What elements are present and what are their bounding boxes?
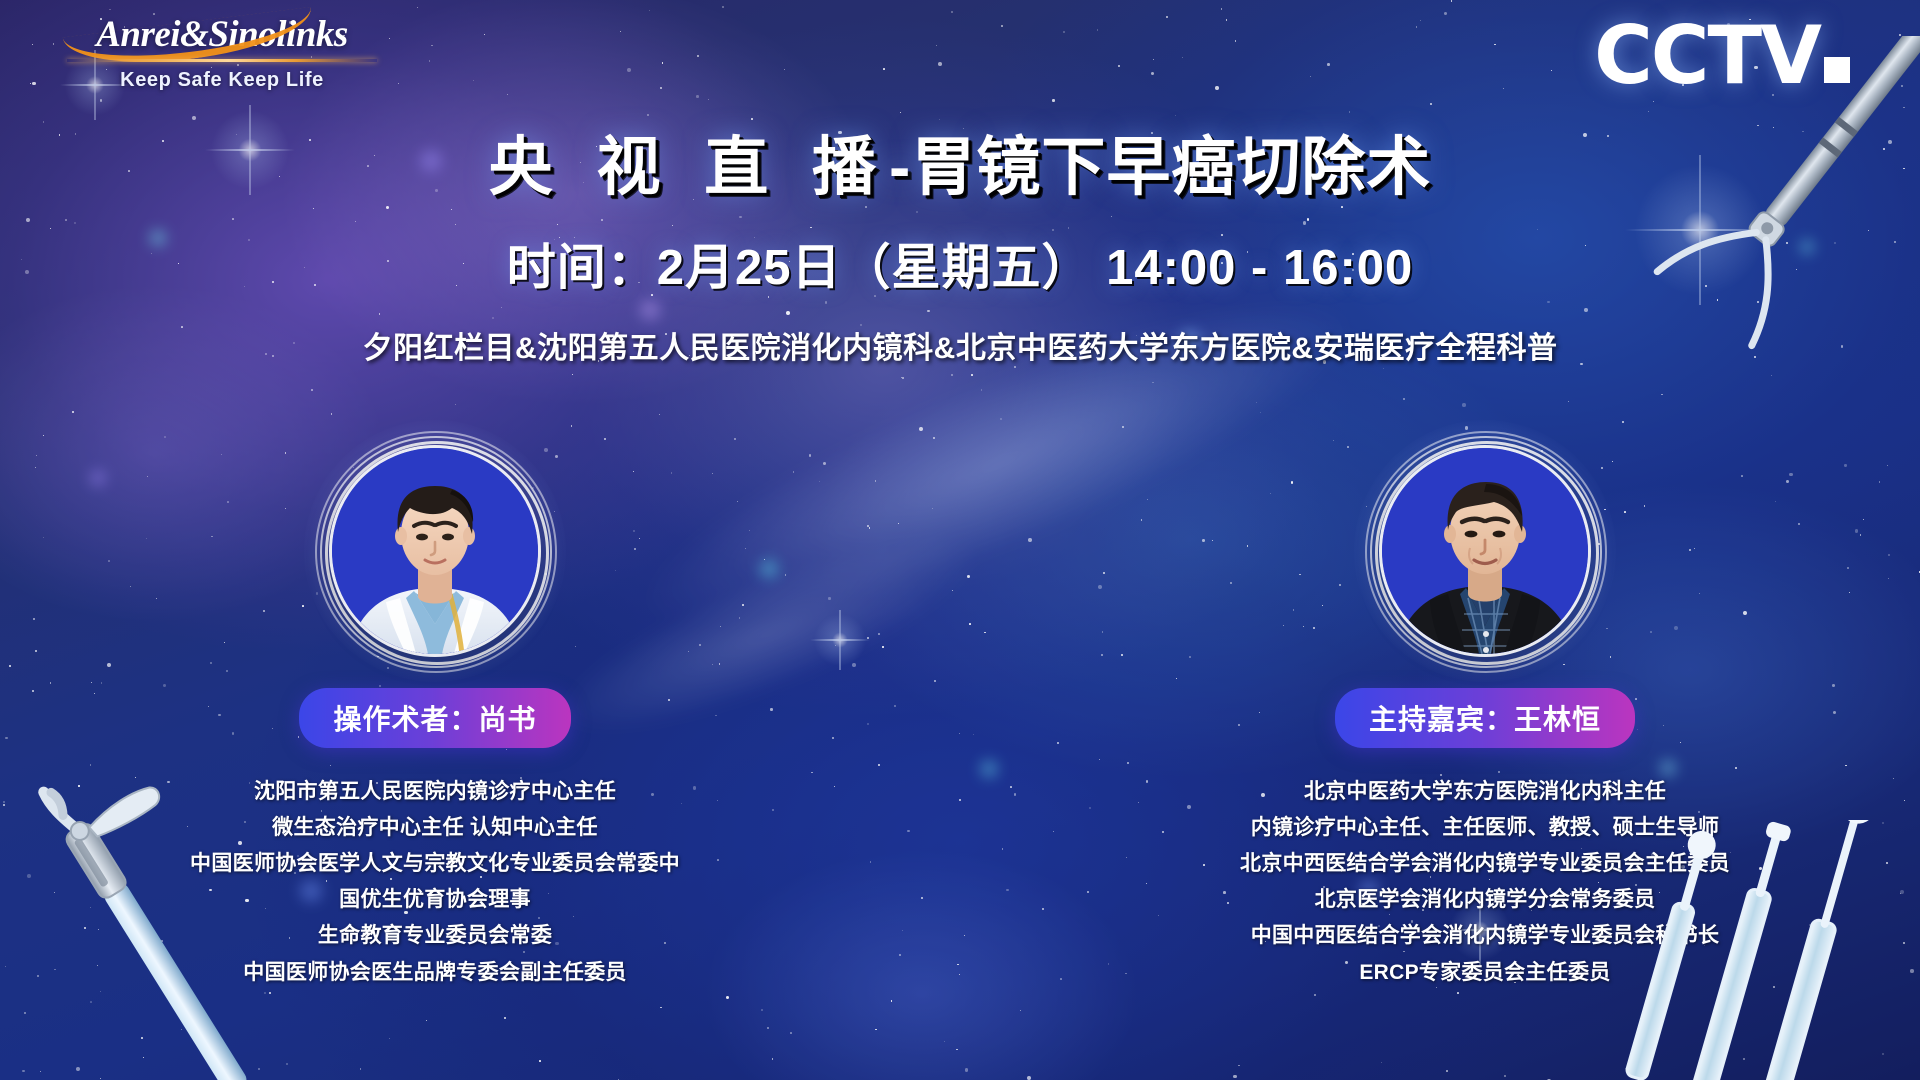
list-item: 中国医师协会医生品牌专委会副主任委员	[190, 955, 680, 991]
page-title-suffix: 胃镜下早癌切除术	[911, 131, 1431, 203]
page-title: 央 视 直 播-胃镜下早癌切除术	[0, 132, 1920, 202]
headline-block: 央 视 直 播-胃镜下早癌切除术 时间：2月25日（星期五） 14:00 - 1…	[0, 132, 1920, 367]
list-item: 内镜诊疗中心主任、主任医师、教授、硕士生导师	[1240, 810, 1730, 846]
credentials-list-operator: 沈阳市第五人民医院内镜诊疗中心主任 微生态治疗中心主任 认知中心主任 中国医师协…	[190, 774, 680, 991]
status-badge: 主持嘉宾：王林恒	[1335, 688, 1635, 748]
list-item: 北京医学会消化内镜学分会常务委员	[1240, 882, 1730, 918]
page-title-separator: -	[889, 131, 911, 203]
list-item: 北京中医药大学东方医院消化内科主任	[1240, 774, 1730, 810]
event-time: 时间：2月25日（星期五） 14:00 - 16:00	[0, 228, 1920, 299]
avatar	[1382, 448, 1588, 654]
list-item: 生命教育专业委员会常委	[190, 918, 680, 954]
list-item: 微生态治疗中心主任 认知中心主任	[190, 810, 680, 846]
logo-divider-rule	[67, 59, 377, 62]
portrait-host	[1382, 448, 1588, 654]
list-item: 中国中西医结合学会消化内镜学专业委员会秘书长	[1240, 918, 1730, 954]
anrei-sinolinks-logo: Anrei&Sinolinks Keep Safe Keep Life	[62, 16, 382, 92]
page-title-prefix: 央 视 直 播	[489, 131, 889, 203]
speakers-row: 操作术者：尚书 沈阳市第五人民医院内镜诊疗中心主任 微生态治疗中心主任 认知中心…	[0, 448, 1920, 991]
portrait-operator	[332, 448, 538, 654]
list-item: 沈阳市第五人民医院内镜诊疗中心主任	[190, 774, 680, 810]
event-subtitle: 夕阳红栏目&沈阳第五人民医院消化内镜科&北京中医药大学东方医院&安瑞医疗全程科普	[0, 323, 1920, 367]
poster-canvas: Anrei&Sinolinks Keep Safe Keep Life CCTV…	[0, 0, 1920, 1080]
status-badge: 操作术者：尚书	[299, 688, 570, 748]
list-item: ERCP专家委员会主任委员	[1240, 955, 1730, 991]
avatar	[332, 448, 538, 654]
speaker-card-operator: 操作术者：尚书 沈阳市第五人民医院内镜诊疗中心主任 微生态治疗中心主任 认知中心…	[175, 448, 695, 991]
list-item: 国优生优育协会理事	[190, 882, 680, 918]
cctv-wordmark-label: CCTV	[1594, 9, 1820, 102]
cctv-logo: CCTV	[1594, 16, 1850, 96]
list-item: 中国医师协会医学人文与宗教文化专业委员会常委中	[190, 846, 680, 882]
anrei-tagline: Keep Safe Keep Life	[62, 69, 382, 92]
speaker-card-host: 主持嘉宾：王林恒 北京中医药大学东方医院消化内科主任 内镜诊疗中心主任、主任医师…	[1225, 448, 1745, 991]
credentials-list-host: 北京中医药大学东方医院消化内科主任 内镜诊疗中心主任、主任医师、教授、硕士生导师…	[1240, 774, 1730, 991]
anrei-wordmark-text: Anrei&Sinolinks	[62, 16, 382, 55]
cctv-dot-icon	[1824, 57, 1850, 83]
list-item: 北京中西医结合学会消化内镜学专业委员会主任委员	[1240, 846, 1730, 882]
